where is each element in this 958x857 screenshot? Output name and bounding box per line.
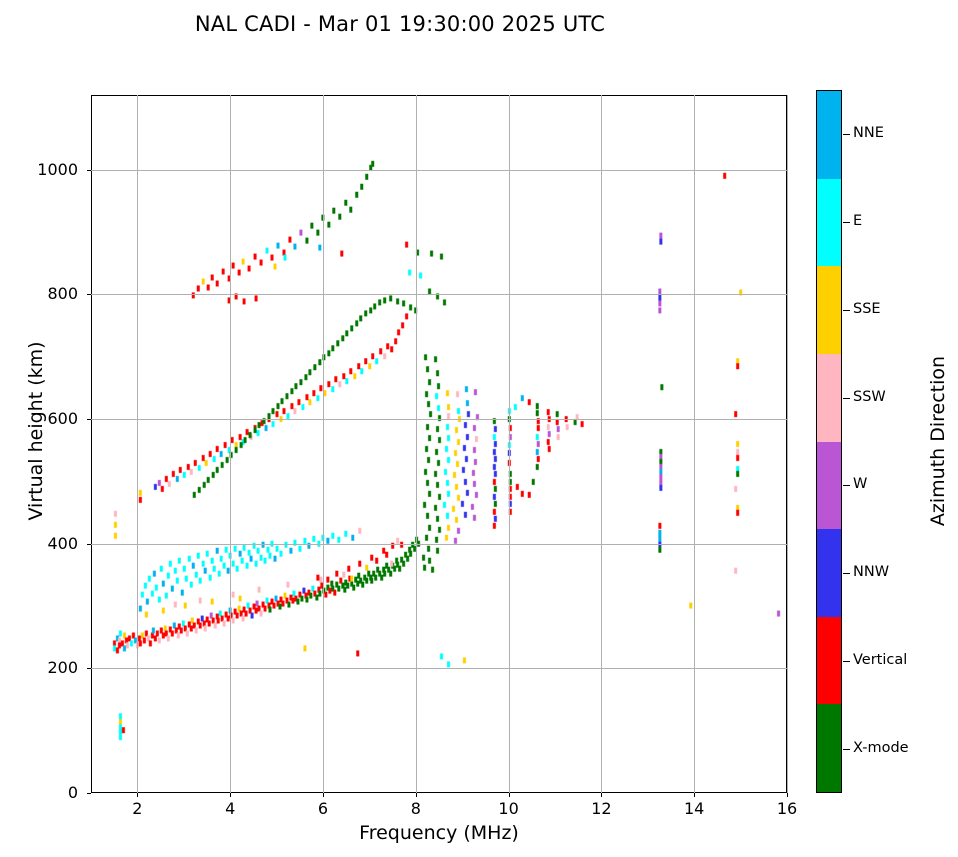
y-tick-label: 0 <box>0 783 78 802</box>
x-tick-label: 16 <box>767 799 807 818</box>
gridline-vertical <box>694 95 695 793</box>
colorbar-segment-e <box>817 179 841 267</box>
y-tick-mark <box>87 668 91 669</box>
colorbar-label-vertical: Vertical <box>853 652 907 668</box>
colorbar-label: Azimuth Direction <box>927 291 949 591</box>
colorbar-tick <box>843 310 850 311</box>
colorbar-tick <box>843 134 850 135</box>
y-tick-mark <box>87 294 91 295</box>
y-tick-mark <box>87 544 91 545</box>
y-tick-label: 200 <box>0 658 78 677</box>
colorbar-segment-vertical <box>817 617 841 705</box>
x-tick-label: 6 <box>303 799 343 818</box>
colorbar-label-ssw: SSW <box>853 389 886 405</box>
gridline-vertical <box>323 95 324 793</box>
colorbar-segment-ssw <box>817 354 841 442</box>
colorbar-segment-sse <box>817 266 841 354</box>
gridline-horizontal <box>91 170 787 171</box>
gridline-vertical <box>601 95 602 793</box>
colorbar-segment-nne <box>817 91 841 179</box>
y-tick-mark <box>87 793 91 794</box>
x-tick-mark <box>509 793 510 797</box>
scatter-data-canvas <box>92 96 786 792</box>
colorbar-label-w: W <box>853 476 867 492</box>
gridline-vertical <box>137 95 138 793</box>
colorbar-label-e: E <box>853 213 862 229</box>
colorbar-tick <box>843 222 850 223</box>
colorbar-segment-w <box>817 442 841 530</box>
y-tick-label: 1000 <box>0 160 78 179</box>
y-axis-label: Virtual height (km) <box>25 211 47 651</box>
azimuth-colorbar <box>816 90 842 793</box>
colorbar-label-nnw: NNW <box>853 564 889 580</box>
x-tick-mark <box>230 793 231 797</box>
gridline-vertical <box>509 95 510 793</box>
colorbar-label-sse: SSE <box>853 301 881 317</box>
gridline-vertical <box>230 95 231 793</box>
colorbar-tick <box>843 749 850 750</box>
colorbar-label-nne: NNE <box>853 125 884 141</box>
y-tick-mark <box>87 419 91 420</box>
page-title: NAL CADI - Mar 01 19:30:00 2025 UTC <box>0 12 800 36</box>
y-tick-mark <box>87 170 91 171</box>
colorbar-label-x-mode: X-mode <box>853 740 909 756</box>
gridline-vertical <box>416 95 417 793</box>
x-axis-label: Frequency (MHz) <box>91 822 787 844</box>
ionogram-plot-area <box>91 95 787 793</box>
x-tick-mark <box>323 793 324 797</box>
x-tick-mark <box>601 793 602 797</box>
colorbar-tick <box>843 398 850 399</box>
colorbar-tick <box>843 661 850 662</box>
x-tick-label: 10 <box>489 799 529 818</box>
gridline-vertical <box>787 95 788 793</box>
gridline-horizontal <box>91 544 787 545</box>
x-tick-mark <box>416 793 417 797</box>
colorbar-segment-x-mode <box>817 704 841 792</box>
gridline-horizontal <box>91 668 787 669</box>
x-tick-label: 2 <box>117 799 157 818</box>
x-tick-mark <box>137 793 138 797</box>
x-tick-label: 4 <box>210 799 250 818</box>
x-tick-label: 14 <box>674 799 714 818</box>
colorbar-segment-nnw <box>817 529 841 617</box>
gridline-horizontal <box>91 294 787 295</box>
colorbar-tick <box>843 485 850 486</box>
x-tick-label: 8 <box>396 799 436 818</box>
x-tick-mark <box>787 793 788 797</box>
x-tick-mark <box>694 793 695 797</box>
colorbar-tick <box>843 573 850 574</box>
x-tick-label: 12 <box>581 799 621 818</box>
gridline-horizontal <box>91 419 787 420</box>
